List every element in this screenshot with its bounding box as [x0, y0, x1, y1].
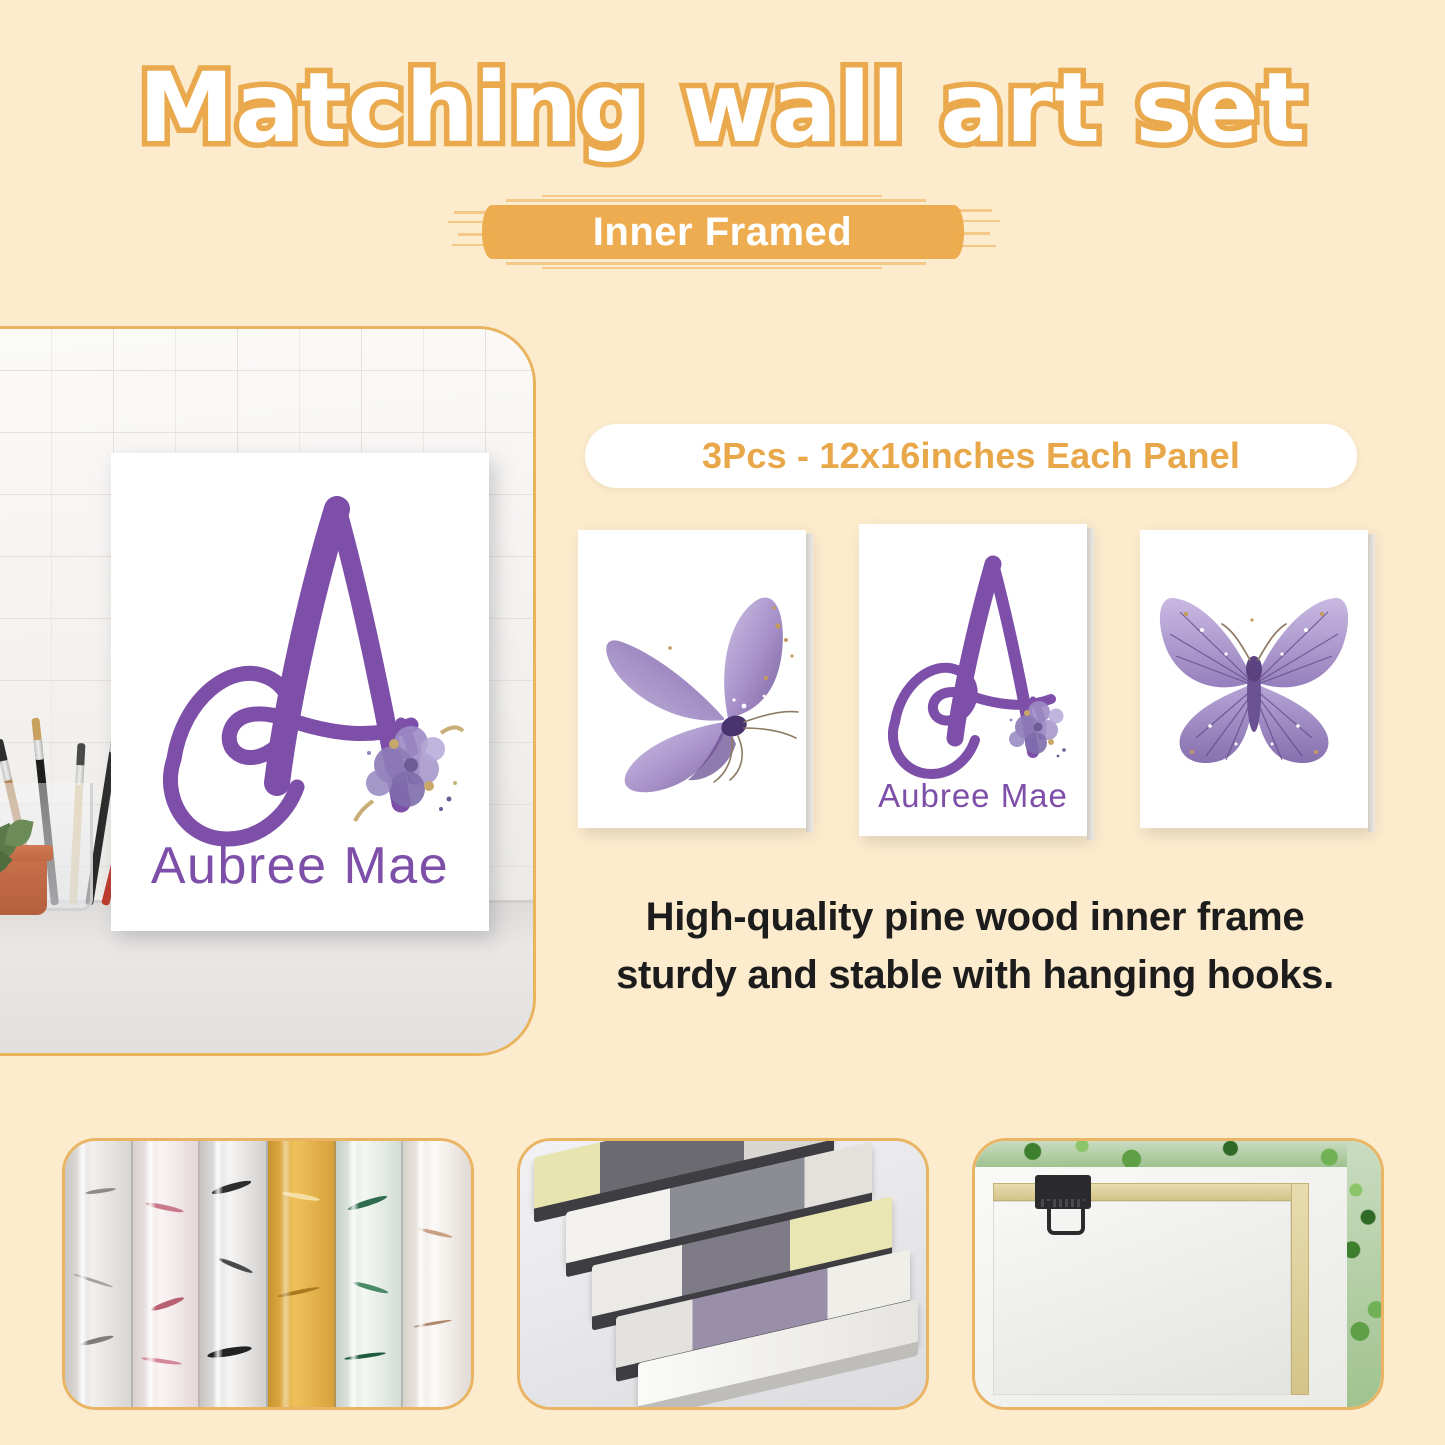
thumb-frame-back-hook [972, 1138, 1384, 1410]
header: Matching wall art set Inner Framed [0, 0, 1445, 300]
brush-fray [952, 245, 996, 247]
page-title: Matching wall art set [0, 58, 1445, 159]
brush-fray [454, 211, 494, 214]
printed-edge-wrap-right [1347, 1141, 1381, 1410]
hanging-hook [1035, 1175, 1091, 1209]
size-badge: 3Pcs - 12x16inches Each Panel [585, 424, 1357, 488]
panel-set: Aubree Mae [578, 530, 1368, 840]
material-roll [336, 1141, 404, 1407]
material-rolls [65, 1141, 471, 1407]
frame-description-line-2: sturdy and stable with hanging hooks. [580, 946, 1370, 1004]
brush-fray [506, 199, 926, 202]
printed-edge-wrap-top [975, 1141, 1384, 1167]
stretched-canvas-back [993, 1201, 1291, 1395]
packing-board-stack [520, 1141, 926, 1407]
panel-butterfly-open [1140, 530, 1368, 828]
frame-description: High-quality pine wood inner frame sturd… [580, 888, 1370, 1004]
material-roll [403, 1141, 471, 1407]
banner-label: Inner Framed [593, 210, 852, 255]
brush-fray [950, 220, 1000, 222]
monogram-artwork: Aubree Mae [111, 453, 489, 931]
butterfly-side-artwork [578, 530, 806, 828]
thumb-packing-boards [517, 1138, 929, 1410]
detail-photo-row [62, 1138, 1384, 1410]
material-roll [268, 1141, 336, 1407]
canvas-back [975, 1141, 1381, 1407]
size-badge-label: 3Pcs - 12x16inches Each Panel [702, 435, 1240, 477]
hero-monogram-canvas: Aubree Mae [111, 453, 489, 931]
brush-fray [542, 195, 882, 197]
personalized-name-panel: Aubree Mae [878, 777, 1068, 814]
brush-fray [448, 221, 496, 223]
panel-butterfly-side [578, 530, 806, 828]
brush-fray [542, 267, 882, 269]
panel-monogram: Aubree Mae [859, 524, 1087, 836]
hero-lifestyle-photo: Aubree Mae [0, 326, 536, 1056]
thumb-canvas-material-rolls [62, 1138, 474, 1410]
brush-fray [458, 233, 494, 236]
brush-fray [452, 244, 494, 246]
brush-fray [952, 232, 990, 235]
frame-description-line-1: High-quality pine wood inner frame [580, 888, 1370, 946]
pine-frame-bar-right [1291, 1183, 1309, 1395]
material-roll [133, 1141, 201, 1407]
material-roll [200, 1141, 268, 1407]
material-roll [65, 1141, 133, 1407]
brush-fray [506, 262, 926, 265]
inner-framed-banner: Inner Framed [0, 192, 1445, 272]
monogram-artwork-small: Aubree Mae [859, 524, 1087, 836]
butterfly-open-artwork [1140, 530, 1368, 828]
personalized-name-hero: Aubree Mae [151, 837, 449, 895]
brush-fray [952, 209, 992, 212]
